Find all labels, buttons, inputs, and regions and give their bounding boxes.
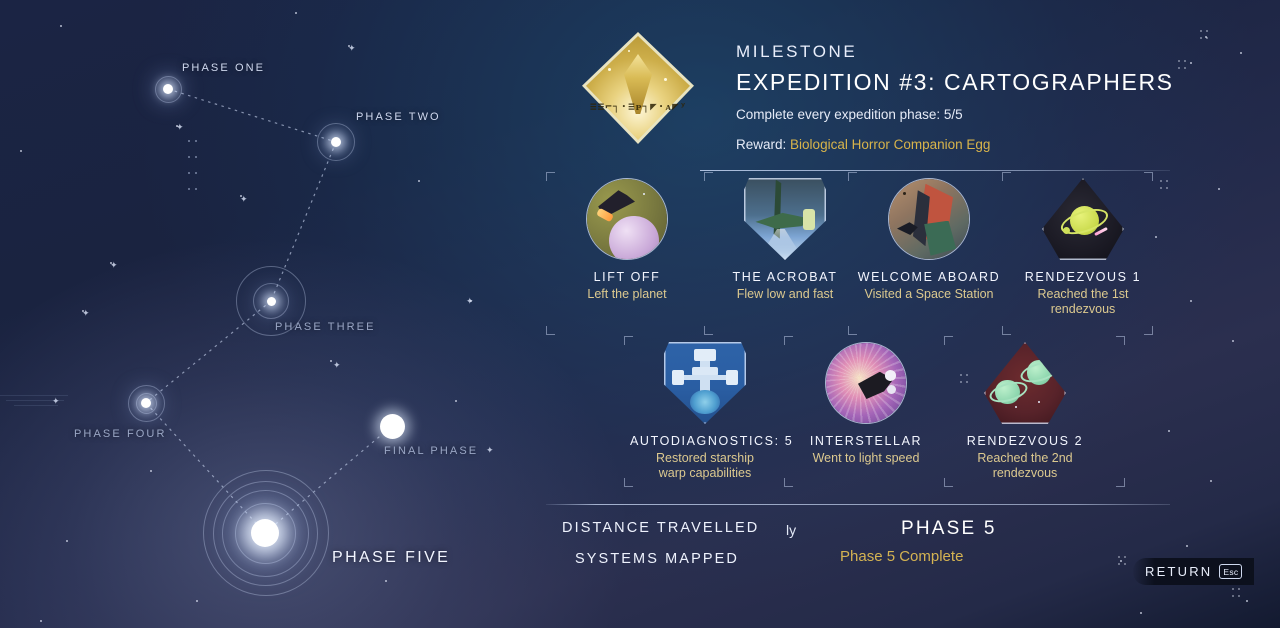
- phase-node-five[interactable]: [251, 519, 279, 547]
- expedition-progress: Complete every expedition phase: 5/5: [736, 107, 1176, 122]
- two-planets-icon: [984, 342, 1066, 424]
- corner-bracket: [624, 478, 633, 487]
- corner-bracket: [1002, 172, 1011, 181]
- milestone-header-text: MILESTONE EXPEDITION #3: CARTOGRAPHERS C…: [736, 42, 1176, 152]
- starship-low-flight-icon: [744, 178, 826, 260]
- deco-dot: [1232, 595, 1234, 597]
- corner-bracket: [546, 326, 555, 335]
- corner-bracket: [1002, 326, 1011, 335]
- corner-bracket: [546, 172, 555, 181]
- phase-node-three[interactable]: [267, 297, 276, 306]
- distance-travelled-label: DISTANCE TRAVELLED: [562, 520, 759, 536]
- deco-dot: [1200, 37, 1202, 39]
- corner-bracket: [944, 336, 953, 345]
- phase-node-one[interactable]: [163, 84, 173, 94]
- emblem-glyph-text: ≡≡⌐┐·≡ᴘ┐◤·ᴀ◤ʸ: [590, 100, 686, 113]
- star: [1240, 52, 1242, 54]
- deco-dot: [1184, 67, 1186, 69]
- star: [1210, 480, 1212, 482]
- milestone-detail-panel: ≡≡⌐┐·≡ᴘ┐◤·ᴀ◤ʸ MILESTONE EXPEDITION #3: C…: [516, 0, 1176, 628]
- reward-label: Reward:: [736, 137, 786, 152]
- phase-node-final[interactable]: [380, 414, 405, 439]
- corner-bracket: [1116, 336, 1125, 345]
- phase-label-three: PHASE THREE: [275, 321, 376, 333]
- expedition-title: EXPEDITION #3: CARTOGRAPHERS: [736, 69, 1176, 96]
- emblem-spark-icon: [608, 68, 611, 71]
- deco-dot: [1206, 30, 1208, 32]
- phase-label-one: PHASE ONE: [182, 62, 265, 74]
- phase-label-two: PHASE TWO: [356, 111, 441, 123]
- reward-value: Biological Horror Companion Egg: [790, 137, 990, 152]
- corner-bracket: [784, 478, 793, 487]
- systems-mapped-label: SYSTEMS MAPPED: [575, 551, 739, 567]
- expedition-milestone-screen: ✦✦✦✦✦✦✦✦✦ PHASE ONE PHASE TWO PHASE THRE…: [0, 0, 1280, 628]
- milestone-name: AUTODIAGNOSTICS: 5: [630, 434, 780, 448]
- milestone-name: INTERSTELLAR: [791, 434, 941, 448]
- deco-dot: [1206, 37, 1208, 39]
- phase-label-four: PHASE FOUR: [74, 428, 167, 440]
- return-button-label: RETURN: [1145, 564, 1212, 579]
- milestone-description: Visited a Space Station: [854, 287, 1004, 302]
- milestone-description: Restored starshipwarp capabilities: [630, 451, 780, 481]
- expedition-emblem: ≡≡⌐┐·≡ᴘ┐◤·ᴀ◤ʸ: [568, 28, 704, 158]
- header-divider: [700, 170, 1170, 171]
- deco-dot: [1238, 588, 1240, 590]
- star: [1246, 600, 1248, 602]
- space-station-icon: [888, 178, 970, 260]
- milestone-card[interactable]: INTERSTELLARWent to light speed: [791, 342, 941, 466]
- milestone-name: LIFT OFF: [552, 270, 702, 284]
- deco-dot: [1178, 67, 1180, 69]
- milestone-card[interactable]: THE ACROBATFlew low and fast: [710, 178, 860, 302]
- warp-core-icon: [664, 342, 746, 424]
- corner-bracket: [848, 172, 857, 181]
- star: [1190, 300, 1192, 302]
- distance-travelled-unit: ly: [786, 522, 796, 538]
- milestone-name: WELCOME ABOARD: [854, 270, 1004, 284]
- ringed-planet-icon: [1042, 178, 1124, 260]
- milestone-name: RENDEZVOUS 2: [950, 434, 1100, 448]
- corner-bracket: [848, 326, 857, 335]
- star: [1232, 340, 1234, 342]
- milestone-card[interactable]: RENDEZVOUS 1Reached the 1strendezvous: [1008, 178, 1158, 317]
- milestone-description: Left the planet: [552, 287, 702, 302]
- corner-bracket: [944, 478, 953, 487]
- milestone-card[interactable]: WELCOME ABOARDVisited a Space Station: [854, 178, 1004, 302]
- emblem-spark-icon: [664, 78, 667, 81]
- expedition-reward-row: Reward: Biological Horror Companion Egg: [736, 137, 1176, 152]
- deco-dots-left: [188, 140, 206, 210]
- star: [1190, 62, 1192, 64]
- deco-dot: [1184, 60, 1186, 62]
- starship-launch-icon: [586, 178, 668, 260]
- milestone-card[interactable]: AUTODIAGNOSTICS: 5Restored starshipwarp …: [630, 342, 780, 481]
- phase-label-five: PHASE FIVE: [332, 549, 450, 567]
- milestone-card[interactable]: LIFT OFFLeft the planet: [552, 178, 702, 302]
- corner-bracket: [784, 336, 793, 345]
- deco-dot: [1232, 588, 1234, 590]
- emblem-spark-icon: [628, 50, 630, 52]
- milestone-kicker: MILESTONE: [736, 42, 1176, 62]
- deco-dot: [1200, 30, 1202, 32]
- star: [1186, 545, 1188, 547]
- deco-dot: [1178, 60, 1180, 62]
- stats-divider: [546, 504, 1170, 505]
- corner-bracket: [1116, 478, 1125, 487]
- deco-bars-left: [0, 395, 120, 413]
- corner-bracket: [704, 172, 713, 181]
- phase-label-final: FINAL PHASE: [384, 445, 478, 457]
- expedition-phase-map: PHASE ONE PHASE TWO PHASE THREE PHASE FO…: [0, 0, 520, 628]
- corner-bracket: [1144, 326, 1153, 335]
- expedition-stats: DISTANCE TRAVELLED ly SYSTEMS MAPPED PHA…: [546, 512, 1170, 582]
- esc-key-icon: Esc: [1219, 564, 1242, 579]
- corner-bracket: [704, 326, 713, 335]
- milestone-description: Went to light speed: [791, 451, 941, 466]
- milestone-description: Reached the 2ndrendezvous: [950, 451, 1100, 481]
- milestone-card[interactable]: RENDEZVOUS 2Reached the 2ndrendezvous: [950, 342, 1100, 481]
- milestone-name: THE ACROBAT: [710, 270, 860, 284]
- milestone-header: ≡≡⌐┐·≡ᴘ┐◤·ᴀ◤ʸ MILESTONE EXPEDITION #3: C…: [540, 22, 1176, 172]
- corner-bracket: [1144, 172, 1153, 181]
- deco-dot: [1238, 595, 1240, 597]
- warp-jump-icon: [825, 342, 907, 424]
- star: [1218, 188, 1220, 190]
- phase-node-two[interactable]: [331, 137, 341, 147]
- corner-bracket: [624, 336, 633, 345]
- phase-node-four[interactable]: [141, 398, 151, 408]
- milestone-description: Reached the 1strendezvous: [1008, 287, 1158, 317]
- milestone-description: Flew low and fast: [710, 287, 860, 302]
- current-phase-status: Phase 5 Complete: [840, 548, 963, 565]
- return-button[interactable]: RETURN Esc: [1133, 558, 1254, 585]
- milestone-name: RENDEZVOUS 1: [1008, 270, 1158, 284]
- current-phase-title: PHASE 5: [901, 518, 997, 540]
